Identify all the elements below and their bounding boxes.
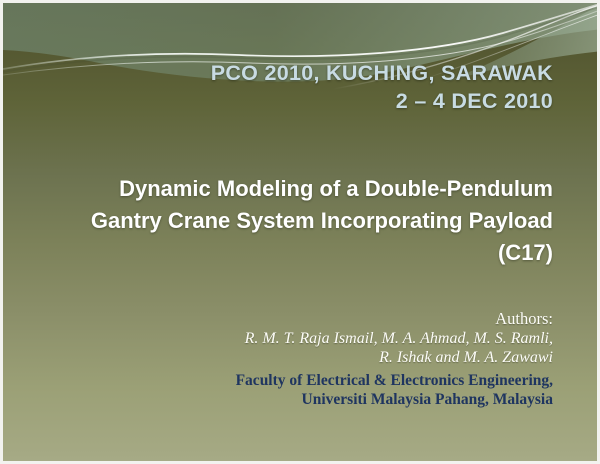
authors-label: Authors: <box>73 309 553 329</box>
paper-title-line-1: Dynamic Modeling of a Double-Pendulum <box>33 173 553 205</box>
presentation-slide: PCO 2010, KUCHING, SARAWAK 2 – 4 DEC 201… <box>0 0 600 464</box>
authors-section: Authors: R. M. T. Raja Ismail, M. A. Ahm… <box>73 309 553 409</box>
paper-title: Dynamic Modeling of a Double-Pendulum Ga… <box>33 173 553 269</box>
paper-title-line-2: Gantry Crane System Incorporating Payloa… <box>33 205 553 237</box>
conference-header: PCO 2010, KUCHING, SARAWAK 2 – 4 DEC 201… <box>93 59 553 115</box>
author-names-line-2: R. Ishak and M. A. Zawawi <box>73 348 553 367</box>
affiliation-line-2: Universiti Malaysia Pahang, Malaysia <box>73 390 553 409</box>
author-names-line-1: R. M. T. Raja Ismail, M. A. Ahmad, M. S.… <box>73 329 553 348</box>
affiliation-line-1: Faculty of Electrical & Electronics Engi… <box>73 371 553 390</box>
paper-code: (C17) <box>33 237 553 269</box>
conference-date-line: 2 – 4 DEC 2010 <box>93 87 553 115</box>
conference-location-line: PCO 2010, KUCHING, SARAWAK <box>93 59 553 87</box>
